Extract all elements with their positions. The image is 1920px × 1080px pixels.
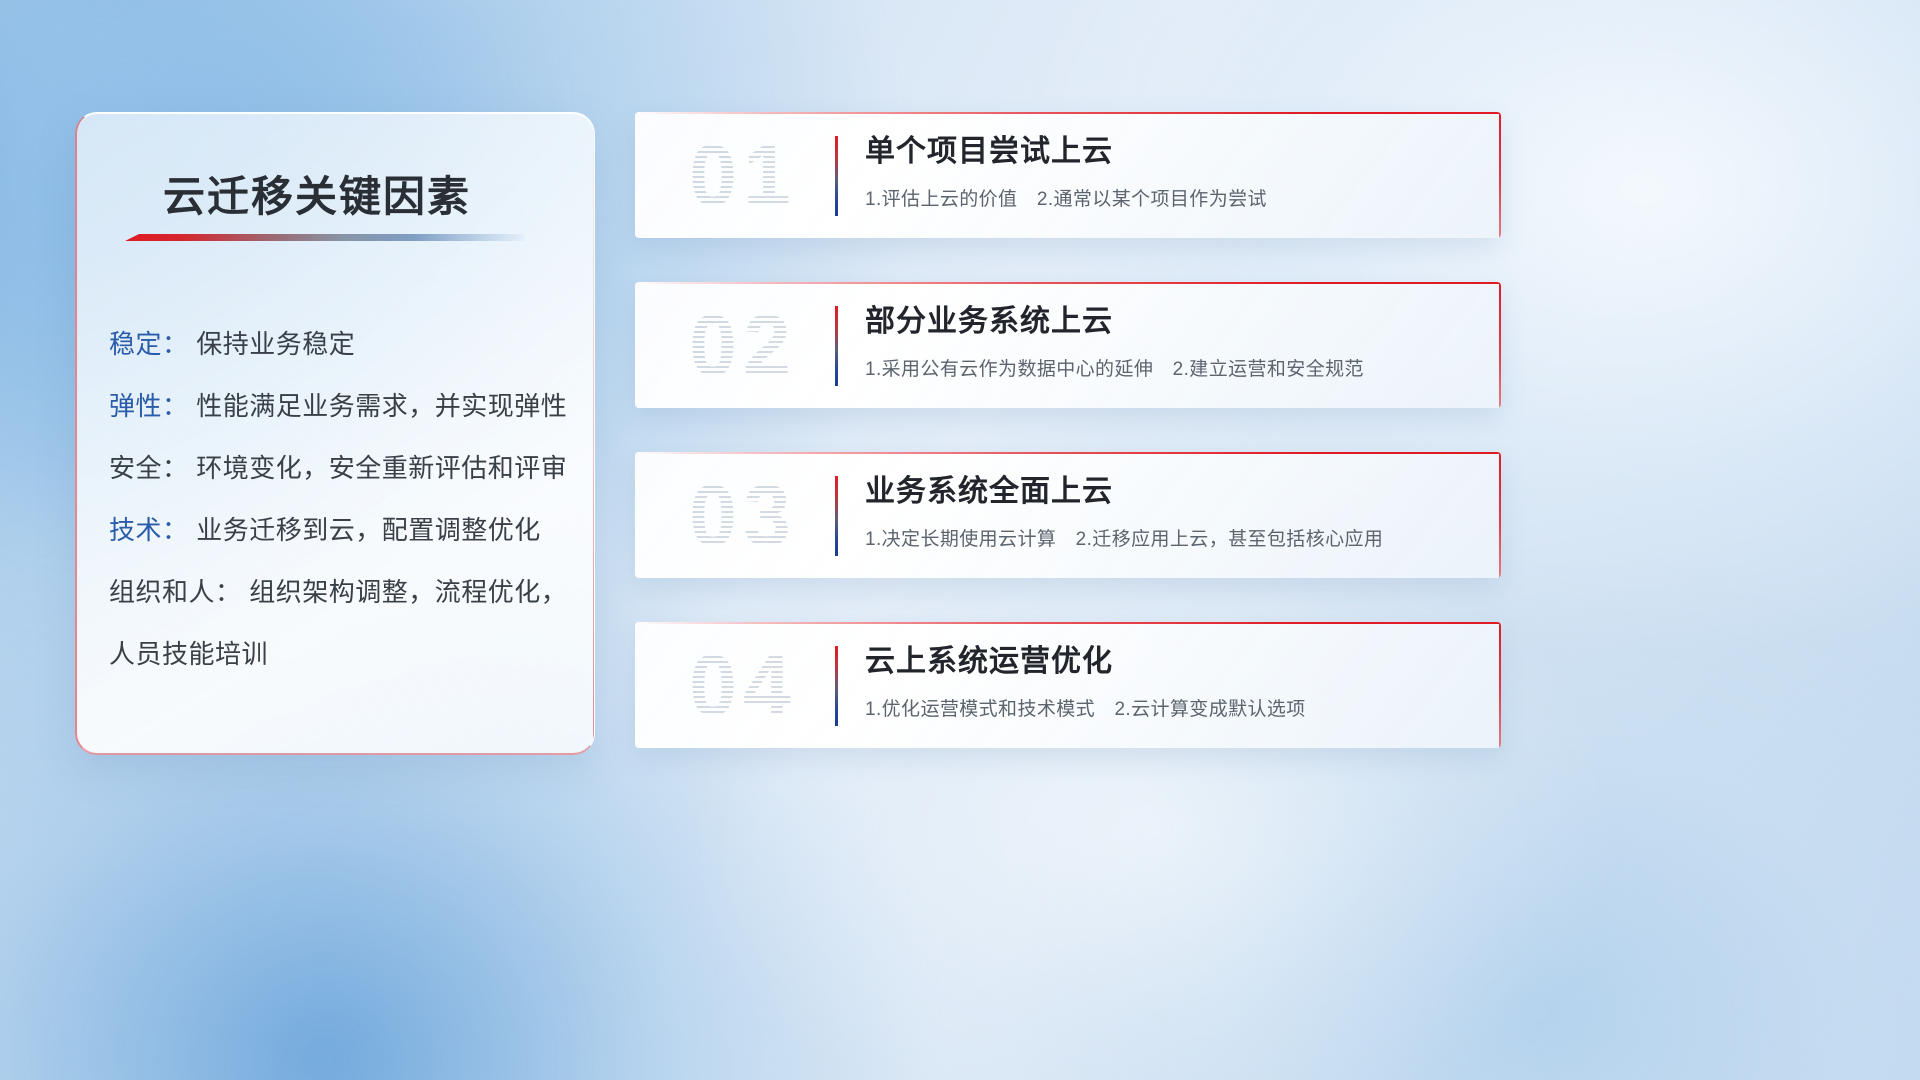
key-factor-text: 人员技能培训 (109, 639, 268, 669)
stage-card-body: 单个项目尝试上云1.评估上云的价值 2.通常以某个项目作为尝试 (865, 132, 1461, 211)
stage-divider-accent (835, 306, 838, 386)
title-underline-accent (125, 234, 525, 241)
key-factor-label: 稳定 (109, 329, 162, 359)
stage-card[interactable]: 01单个项目尝试上云1.评估上云的价值 2.通常以某个项目作为尝试 (635, 112, 1501, 238)
stage-title: 单个项目尝试上云 (865, 132, 1461, 172)
key-factor-label: 弹性 (109, 391, 162, 421)
key-factors-list: 稳定： 保持业务稳定弹性： 性能满足业务需求，并实现弹性安全： 环境变化，安全重… (109, 313, 570, 685)
stage-card[interactable]: 04云上系统运营优化1.优化运营模式和技术模式 2.云计算变成默认选项 (635, 622, 1501, 748)
page-title: 云迁移关键因素 (163, 163, 471, 224)
stage-divider-accent (835, 476, 838, 556)
key-factor-label: 安全 (109, 453, 162, 483)
stage-description: 1.评估上云的价值 2.通常以某个项目作为尝试 (865, 184, 1461, 211)
cloud-migration-stage-cards: 01单个项目尝试上云1.评估上云的价值 2.通常以某个项目作为尝试02部分业务系… (635, 112, 1501, 792)
stage-number-watermark: 03 (663, 466, 823, 566)
key-factor-text: 环境变化，安全重新评估和评审 (196, 453, 567, 483)
key-factor-separator: ： (215, 577, 242, 607)
stage-divider-accent (835, 646, 838, 726)
key-factor-text: 保持业务稳定 (196, 329, 355, 359)
stage-divider-accent (835, 136, 838, 216)
key-factor-item: 弹性： 性能满足业务需求，并实现弹性 (109, 375, 570, 437)
key-factor-label: 组织和人 (109, 577, 215, 607)
key-factor-item: 技术： 业务迁移到云，配置调整优化 (109, 499, 570, 561)
key-factor-text: 性能满足业务需求，并实现弹性 (196, 391, 567, 421)
stage-card-body: 部分业务系统上云1.采用公有云作为数据中心的延伸 2.建立运营和安全规范 (865, 302, 1461, 381)
key-factor-separator: ： (162, 391, 189, 421)
stage-number-watermark: 02 (663, 296, 823, 396)
key-factor-separator: ： (162, 453, 189, 483)
key-factor-item: 人员技能培训 (109, 623, 570, 685)
stage-card-body: 业务系统全面上云1.决定长期使用云计算 2.迁移应用上云，甚至包括核心应用 (865, 472, 1461, 551)
key-factors-panel: 云迁移关键因素 稳定： 保持业务稳定弹性： 性能满足业务需求，并实现弹性安全： … (75, 112, 595, 755)
stage-description: 1.优化运营模式和技术模式 2.云计算变成默认选项 (865, 694, 1461, 721)
stage-title: 业务系统全面上云 (865, 472, 1461, 512)
key-factor-label: 技术 (109, 515, 162, 545)
stage-card[interactable]: 02部分业务系统上云1.采用公有云作为数据中心的延伸 2.建立运营和安全规范 (635, 282, 1501, 408)
stage-number-watermark: 04 (663, 636, 823, 736)
stage-description: 1.采用公有云作为数据中心的延伸 2.建立运营和安全规范 (865, 354, 1461, 381)
key-factor-text: 业务迁移到云，配置调整优化 (196, 515, 541, 545)
key-factor-item: 安全： 环境变化，安全重新评估和评审 (109, 437, 570, 499)
key-factor-separator: ： (162, 329, 189, 359)
key-factor-separator: ： (162, 515, 189, 545)
stage-description: 1.决定长期使用云计算 2.迁移应用上云，甚至包括核心应用 (865, 524, 1461, 551)
key-factor-item: 组织和人： 组织架构调整，流程优化， (109, 561, 570, 623)
stage-title: 云上系统运营优化 (865, 642, 1461, 682)
key-factor-text: 组织架构调整，流程优化， (249, 577, 567, 607)
stage-title: 部分业务系统上云 (865, 302, 1461, 342)
key-factor-item: 稳定： 保持业务稳定 (109, 313, 570, 375)
stage-card-body: 云上系统运营优化1.优化运营模式和技术模式 2.云计算变成默认选项 (865, 642, 1461, 721)
stage-card[interactable]: 03业务系统全面上云1.决定长期使用云计算 2.迁移应用上云，甚至包括核心应用 (635, 452, 1501, 578)
stage-number-watermark: 01 (663, 126, 823, 226)
